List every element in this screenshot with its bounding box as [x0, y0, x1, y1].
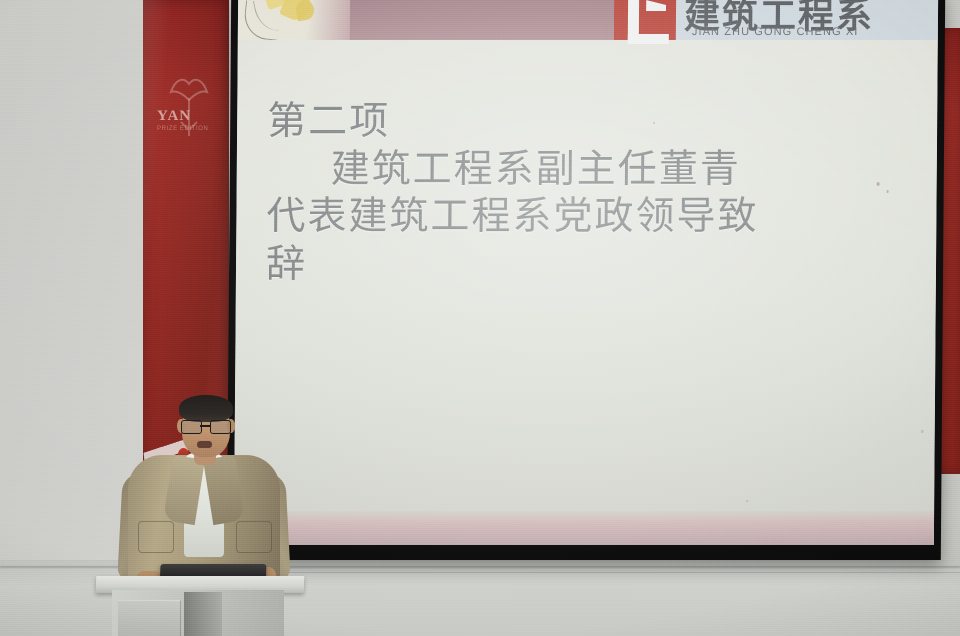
presentation-photo: YAN PRIZE EDITION [0, 0, 960, 636]
screen-speck [746, 500, 748, 502]
lens-left [181, 420, 202, 434]
slide-body: 第二项 建筑工程系副主任董青 代表建筑工程系党政领导致 辞 [234, 40, 938, 511]
banner-brand-text: YAN [157, 108, 191, 125]
banner-brand-subtext: PRIZE EDITION [157, 126, 208, 132]
podium-shadow [184, 592, 222, 636]
department-name-pinyin: JIAN ZHU GONG CHENG XI [692, 26, 859, 38]
slide-line-1: 第二项 [267, 98, 911, 146]
orchid-flower-icon [238, 0, 350, 40]
flower-petal [295, 0, 316, 21]
speaker-pocket-right [236, 521, 272, 553]
speaker-mouth [197, 441, 212, 448]
slide-line-4: 辞 [266, 241, 910, 289]
eyeglasses-icon [181, 420, 231, 432]
glasses-bridge [200, 425, 210, 427]
presentation-slide: 建筑工程系 JIAN ZHU GONG CHENG XI 第二项 建筑工程系副主… [234, 0, 938, 545]
slide-line-2: 建筑工程系副主任董青 [267, 146, 911, 194]
screen-speck [921, 430, 924, 433]
screen-speck [877, 182, 880, 186]
slide-footer-band [234, 511, 934, 545]
speaker-hair [179, 395, 233, 422]
podium-panel [118, 600, 181, 636]
slide-header-band: 建筑工程系 JIAN ZHU GONG CHENG XI [238, 0, 938, 40]
department-logo-block: 建筑工程系 JIAN ZHU GONG CHENG XI [614, 0, 938, 40]
wall-seam-secondary [240, 572, 960, 573]
screen-speck [653, 122, 655, 124]
slide-line-3: 代表建筑工程系党政领导致 [266, 193, 910, 241]
speaker-pocket-left [138, 521, 174, 553]
projection-screen: 建筑工程系 JIAN ZHU GONG CHENG XI 第二项 建筑工程系副主… [234, 0, 938, 545]
red-square-logo-icon [614, 0, 676, 40]
screen-speck [887, 190, 889, 193]
lens-right [210, 420, 231, 434]
